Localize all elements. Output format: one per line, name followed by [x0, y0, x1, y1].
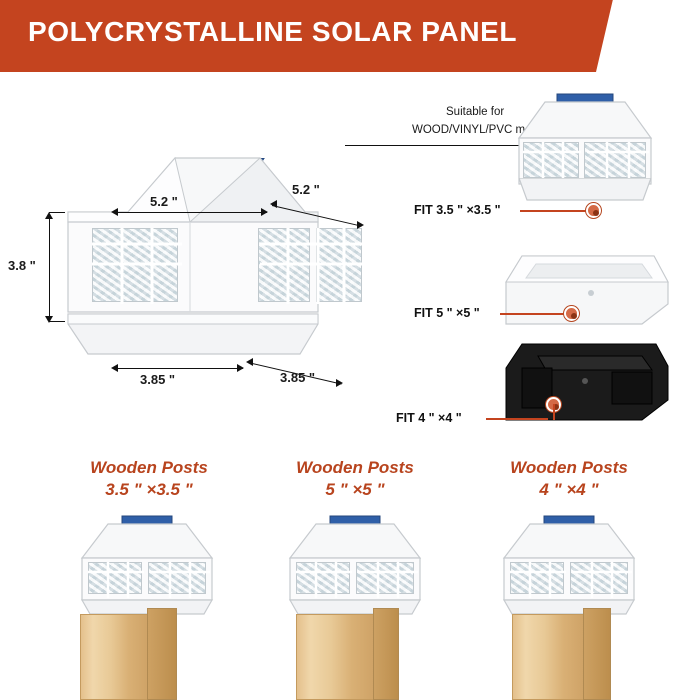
post-2-mullions	[292, 558, 420, 600]
fit-4-label: FIT 4 " ×4 "	[396, 411, 462, 425]
page-title: POLYCRYSTALLINE SOLAR PANEL	[28, 16, 517, 48]
post-2-title-line1: Wooden Posts	[272, 458, 438, 478]
post-1-wood-side	[147, 608, 177, 700]
post-2-title-line2: 5 " ×5 "	[272, 480, 438, 500]
dim-top-width-left-label: 5.2 "	[150, 194, 178, 209]
dim-top-width-right-label: 5.2 "	[292, 182, 320, 197]
fit-5-label: FIT 5 " ×5 "	[414, 306, 480, 320]
header-banner: POLYCRYSTALLINE SOLAR PANEL	[0, 0, 679, 72]
post-3-wood-front	[512, 614, 584, 700]
post-1-mullions	[84, 558, 212, 600]
post-1-title-line1: Wooden Posts	[66, 458, 232, 478]
dim-height-label: 3.8 "	[8, 258, 36, 273]
post-3-wood-side	[583, 608, 611, 700]
dim-base-width-right-label: 3.85 "	[280, 370, 315, 385]
suitable-for-line1: Suitable for	[446, 106, 504, 118]
post-3-title-line2: 4 " ×4 "	[486, 480, 652, 500]
dim-base-width-left-label: 3.85 "	[140, 372, 175, 387]
post-3-mullions	[506, 558, 634, 600]
glass-mullions	[88, 224, 368, 308]
post-2-wood-side	[373, 608, 399, 700]
post-1-wood-front	[80, 614, 148, 700]
post-2-wood-front	[296, 614, 374, 700]
adapter-screw	[588, 290, 594, 296]
fit-5-dot	[564, 306, 579, 321]
fit-35-dot	[586, 203, 601, 218]
post-1-title-line2: 3.5 " ×3.5 "	[66, 480, 232, 500]
post-3-title-line1: Wooden Posts	[486, 458, 652, 478]
bracket-screw	[582, 378, 588, 384]
cap-base-shape	[60, 310, 380, 370]
fit-35-label: FIT 3.5 " ×3.5 "	[414, 203, 501, 217]
